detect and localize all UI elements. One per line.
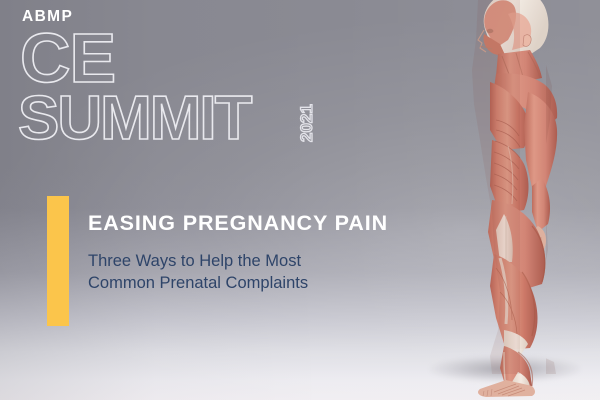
logo-year-2021: 2021 [297, 104, 316, 142]
subtitle-line-2: Common Prenatal Complaints [88, 274, 308, 292]
page-subtitle: Three Ways to Help the Most Common Prena… [88, 250, 388, 296]
brand-abmp-text: ABMP [22, 9, 73, 25]
anatomical-figure-illustration [420, 0, 600, 400]
accent-bar [47, 196, 69, 326]
logo-outline-lettering: CE SUMMIT 2021 [18, 26, 323, 146]
headline-text-group: EASING PREGNANCY PAIN Three Ways to Help… [88, 212, 438, 295]
anatomical-figure [420, 0, 600, 400]
logo-line-summit: SUMMIT [18, 84, 253, 146]
poster-canvas: ABMP CE SUMMIT 2021 EASING PREGNANCY PAI… [0, 0, 600, 400]
page-title: EASING PREGNANCY PAIN [88, 212, 438, 236]
subtitle-line-1: Three Ways to Help the Most [88, 252, 301, 270]
abmp-ce-summit-logo: ABMP CE SUMMIT 2021 [20, 6, 320, 141]
